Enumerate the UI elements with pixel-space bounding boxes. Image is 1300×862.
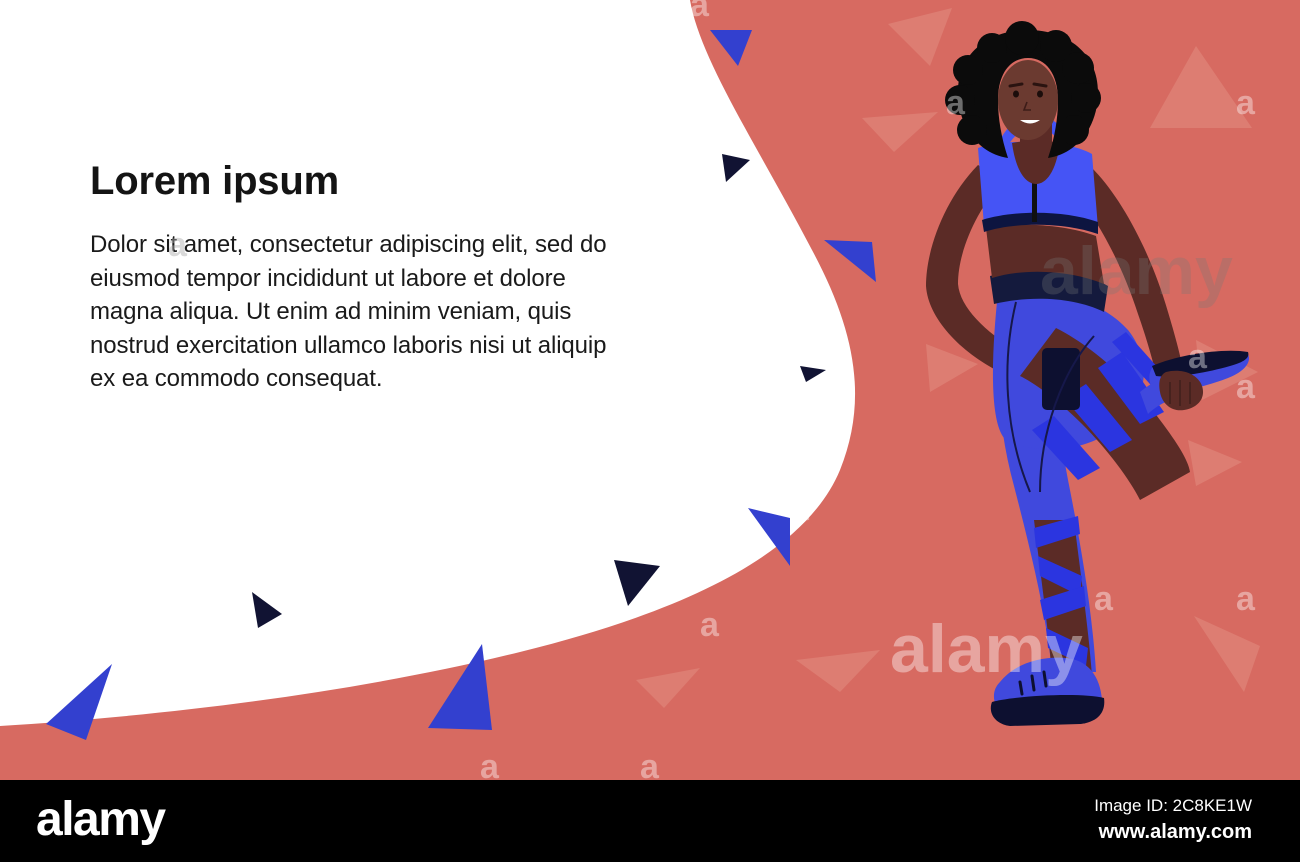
eyebrow-left <box>1010 84 1022 86</box>
face <box>998 60 1058 140</box>
phone-pocket <box>1042 348 1080 410</box>
screenshot-root: Lorem ipsum Dolor sit amet, consectetur … <box>0 0 1300 862</box>
eye-right <box>1037 91 1043 98</box>
page-title: Lorem ipsum <box>90 160 630 202</box>
body-paragraph: Dolor sit amet, consectetur adipiscing e… <box>90 228 630 396</box>
illustration-artboard: Lorem ipsum Dolor sit amet, consectetur … <box>0 0 1300 780</box>
image-id-label: Image ID: 2C8KE1W <box>932 796 1252 816</box>
eyebrow-right <box>1034 84 1046 86</box>
alamy-logo: alamy <box>36 796 165 844</box>
copy-block: Lorem ipsum Dolor sit amet, consectetur … <box>90 160 630 396</box>
sneaker-standing-sole <box>991 695 1105 726</box>
alamy-footer-bar: alamy Image ID: 2C8KE1W www.alamy.com <box>0 780 1300 862</box>
eye-left <box>1013 91 1019 98</box>
alamy-url: www.alamy.com <box>932 821 1252 844</box>
